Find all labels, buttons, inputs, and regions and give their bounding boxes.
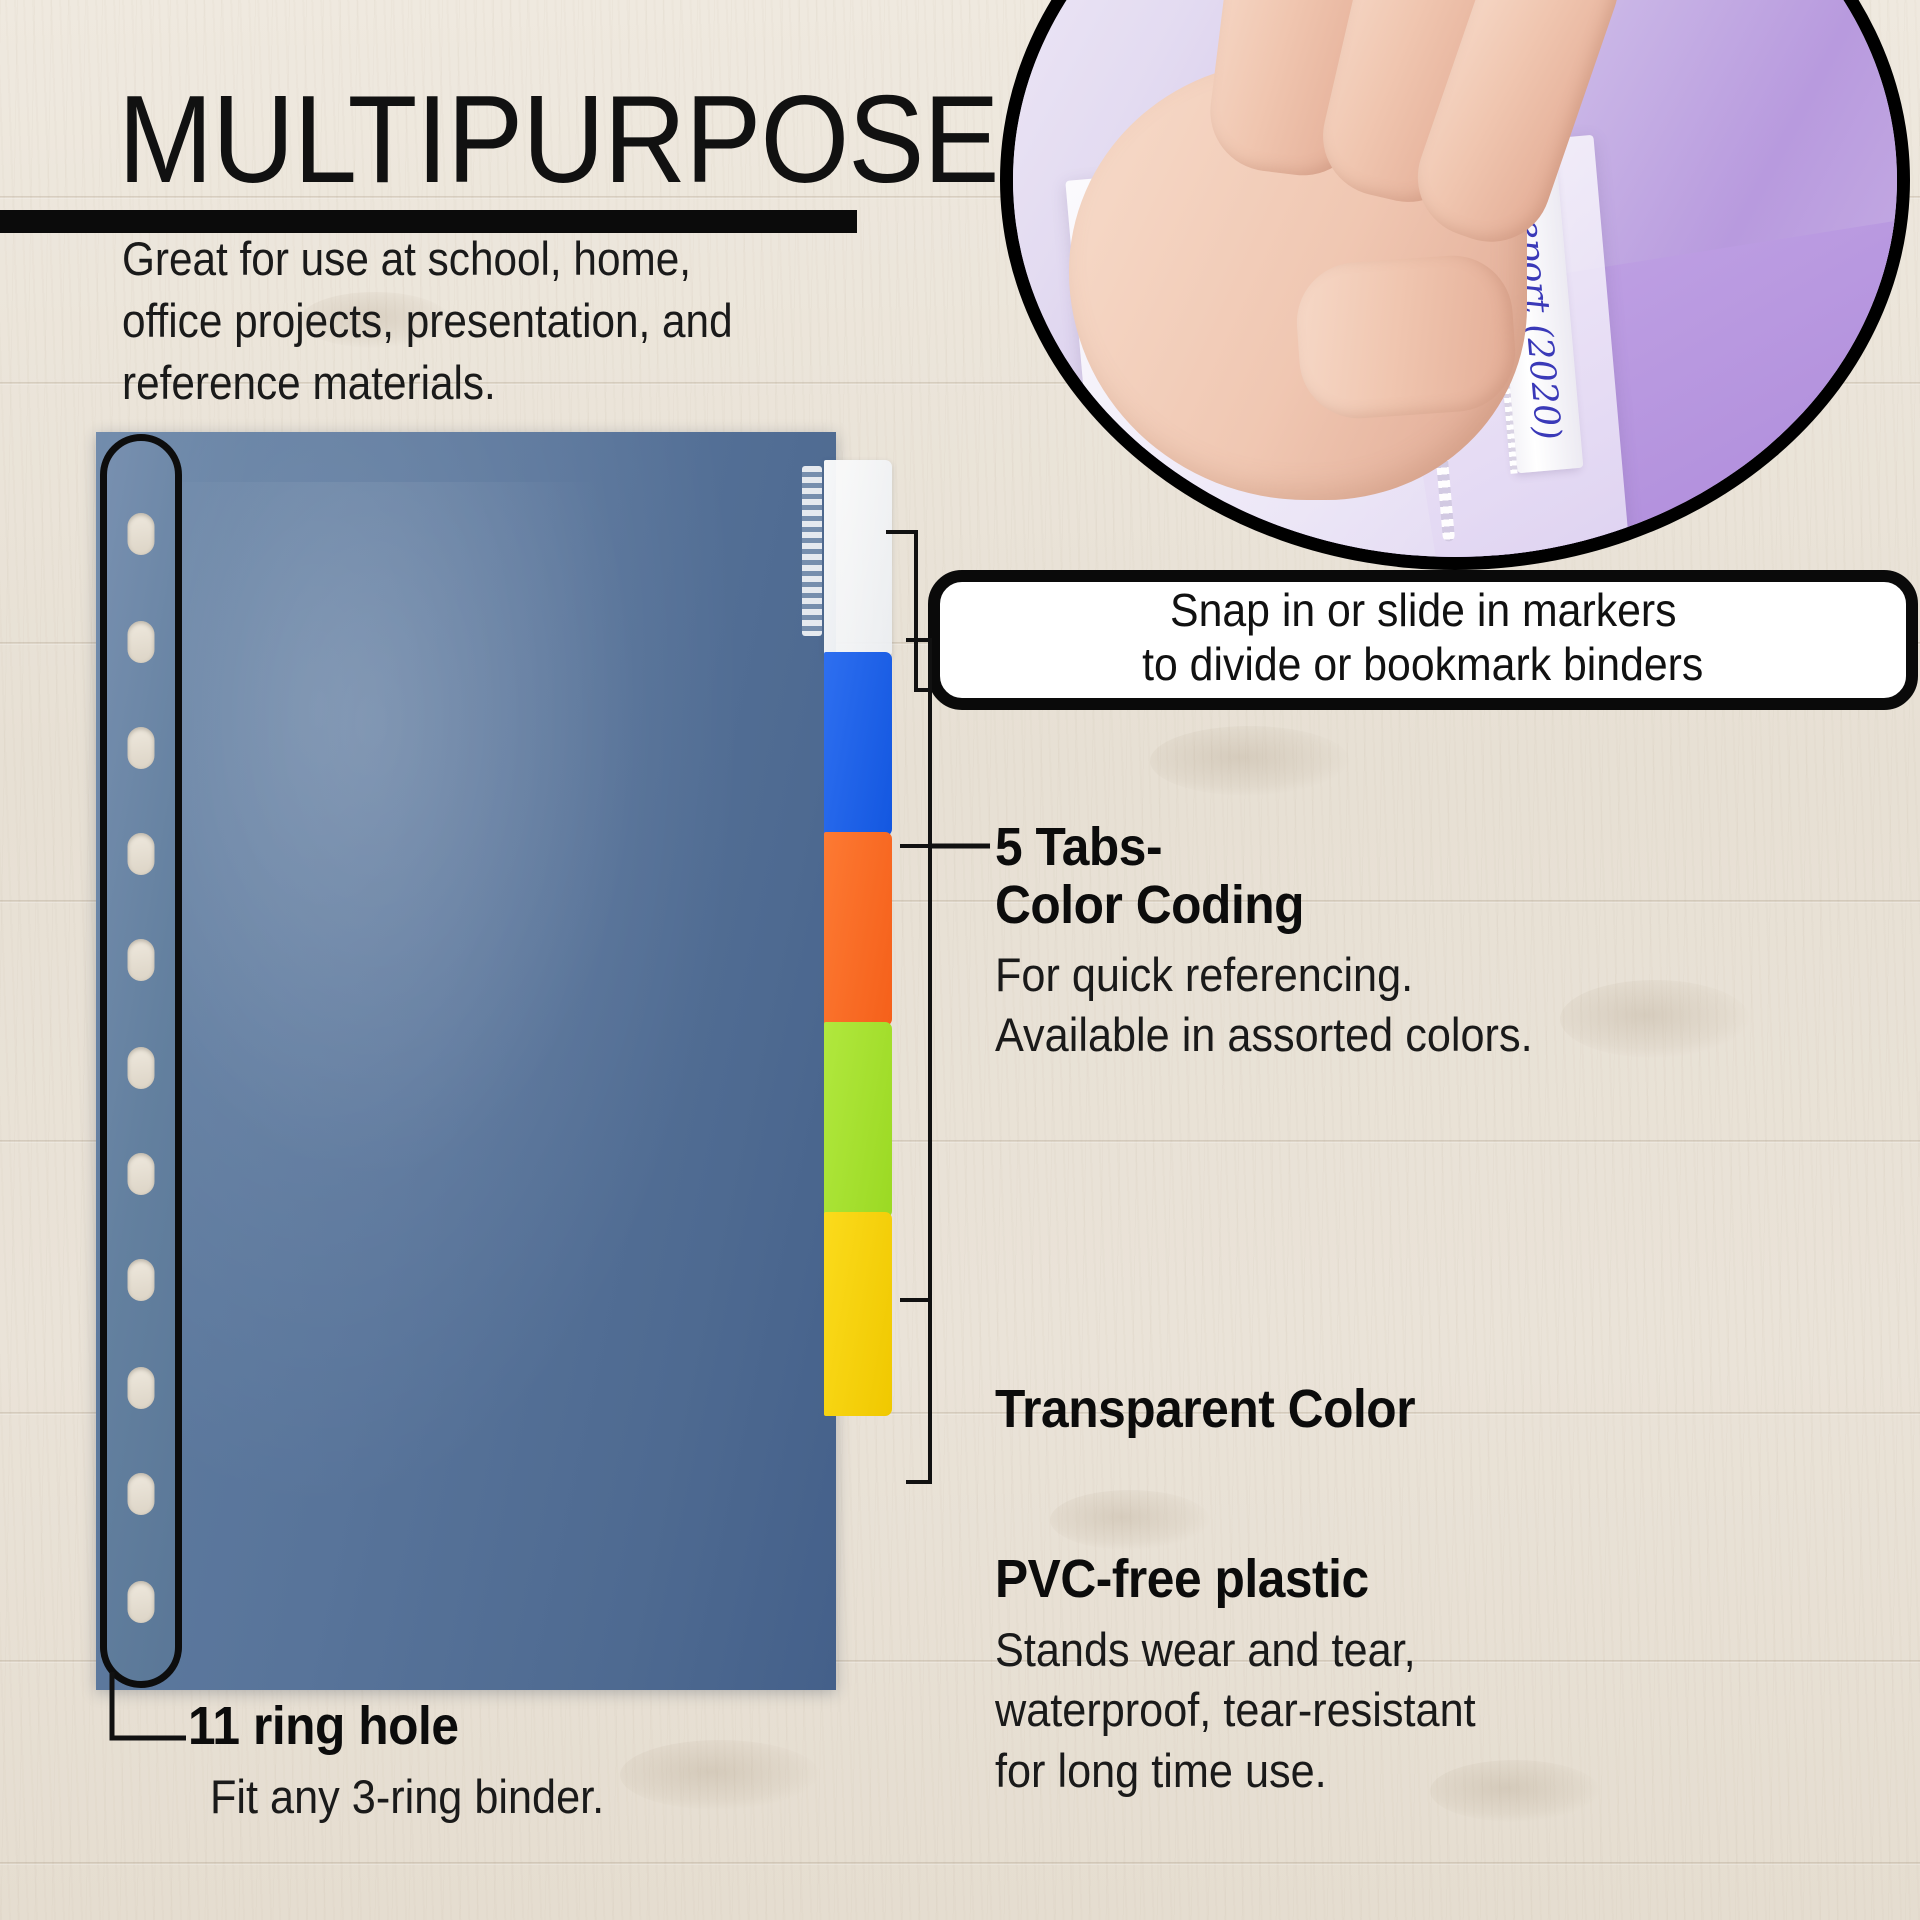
callout-line: to divide or bookmark binders: [1142, 638, 1703, 692]
callout-line: Snap in or slide in markers: [1170, 584, 1676, 638]
ring-hole-heading: 11 ring hole: [188, 1695, 832, 1757]
feature-desc-line: waterproof, tear-resistant: [995, 1680, 1851, 1740]
ring-hole-strip: [100, 434, 182, 1688]
ring-hole: [128, 727, 155, 769]
feature-heading-line: Transparent Color: [995, 1380, 1851, 1438]
orange-tab[interactable]: [824, 832, 892, 1026]
ring-hole: [128, 1047, 155, 1089]
thumb: [1293, 252, 1520, 423]
feature-desc-line: Available in assorted colors.: [995, 1005, 1851, 1065]
subtitle-line: reference materials.: [122, 352, 752, 414]
feature-heading-line: Color Coding: [995, 876, 1851, 934]
subtitle-line: Great for use at school, home,: [122, 228, 752, 290]
feature-ring-hole: 11 ring hole Fit any 3-ring binder.: [188, 1695, 888, 1824]
feature-desc-line: for long time use.: [995, 1741, 1851, 1801]
ring-hole: [128, 833, 155, 875]
product-detail-inset-photo: Report (2020): [1000, 0, 1910, 570]
feature-pvc-free-plastic: PVC-free plastic Stands wear and tear, w…: [995, 1550, 1920, 1801]
inset-circle-frame: Report (2020): [1000, 0, 1910, 570]
yellow-tab[interactable]: [824, 1212, 892, 1416]
subtitle-line: office projects, presentation, and: [122, 290, 752, 352]
feature-transparent-color: Transparent Color: [995, 1380, 1920, 1438]
ring-hole: [128, 1259, 155, 1301]
blue-tab[interactable]: [824, 652, 892, 836]
ring-hole: [128, 1581, 155, 1623]
feature-heading-line: 5 Tabs-: [995, 818, 1851, 876]
feature-heading-line: PVC-free plastic: [995, 1550, 1851, 1608]
binder-sleeve-product: [96, 432, 836, 1690]
clear-tab[interactable]: [824, 460, 892, 658]
color-tab-stack: [824, 460, 892, 1710]
plank-seam: [0, 1862, 1920, 1865]
subtitle-block: Great for use at school, home, office pr…: [122, 228, 752, 414]
green-tab[interactable]: [824, 1022, 892, 1218]
ring-hole: [128, 1473, 155, 1515]
feature-desc-line: For quick referencing.: [995, 945, 1851, 1005]
feature-desc-line: Stands wear and tear,: [995, 1620, 1851, 1680]
feature-5-tabs-color-coding: 5 Tabs- Color Coding For quick referenci…: [995, 818, 1920, 1065]
ring-hole: [128, 621, 155, 663]
ring-hole: [128, 939, 155, 981]
page-title: MULTIPURPOSE: [118, 78, 999, 202]
ring-hole-description: Fit any 3-ring binder.: [210, 1769, 834, 1824]
ring-hole: [128, 1367, 155, 1409]
wood-knot: [1150, 726, 1350, 796]
ring-hole: [128, 513, 155, 555]
ring-hole: [128, 1153, 155, 1195]
sleeve-highlight: [170, 482, 644, 1186]
hand-holding-label-icon: [1031, 0, 1667, 557]
wood-knot: [1050, 1490, 1210, 1550]
callout-snap-in-markers: Snap in or slide in markers to divide or…: [928, 570, 1918, 710]
